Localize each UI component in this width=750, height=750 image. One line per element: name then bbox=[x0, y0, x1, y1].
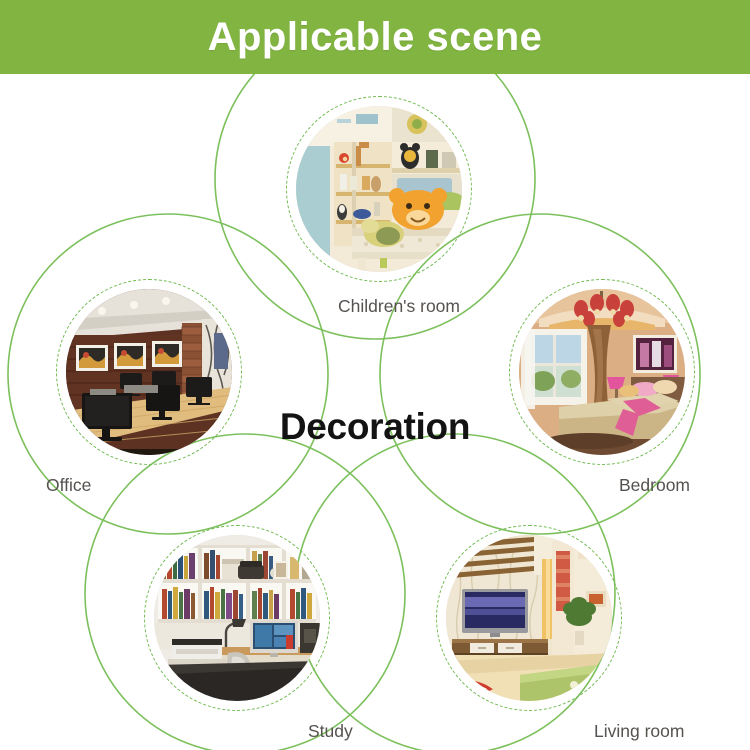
scene-node-study[interactable]: Study bbox=[144, 525, 330, 711]
living-room-photo-art bbox=[446, 535, 612, 701]
scene-photo-study[interactable] bbox=[154, 535, 320, 701]
scene-caption-childrens-room: Children's room bbox=[306, 296, 492, 317]
study-photo-art bbox=[154, 535, 320, 701]
scene-photo-living-room[interactable] bbox=[446, 535, 612, 701]
childrens-room-photo-art bbox=[296, 106, 462, 272]
scene-caption-study: Study bbox=[308, 721, 353, 742]
scene-caption-living-room: Living room bbox=[594, 721, 684, 742]
diagram-center-label: Decoration bbox=[0, 406, 750, 448]
scene-photo-childrens-room[interactable] bbox=[296, 106, 462, 272]
scene-node-living-room[interactable]: Living room bbox=[436, 525, 622, 711]
scene-node-childrens-room[interactable]: Children's room bbox=[286, 96, 472, 282]
scene-caption-office: Office bbox=[46, 475, 91, 496]
page-title: Applicable scene bbox=[208, 15, 543, 60]
header-banner: Applicable scene bbox=[0, 0, 750, 74]
applicable-scene-diagram: Children's room bbox=[0, 74, 750, 750]
scene-caption-bedroom: Bedroom bbox=[619, 475, 690, 496]
